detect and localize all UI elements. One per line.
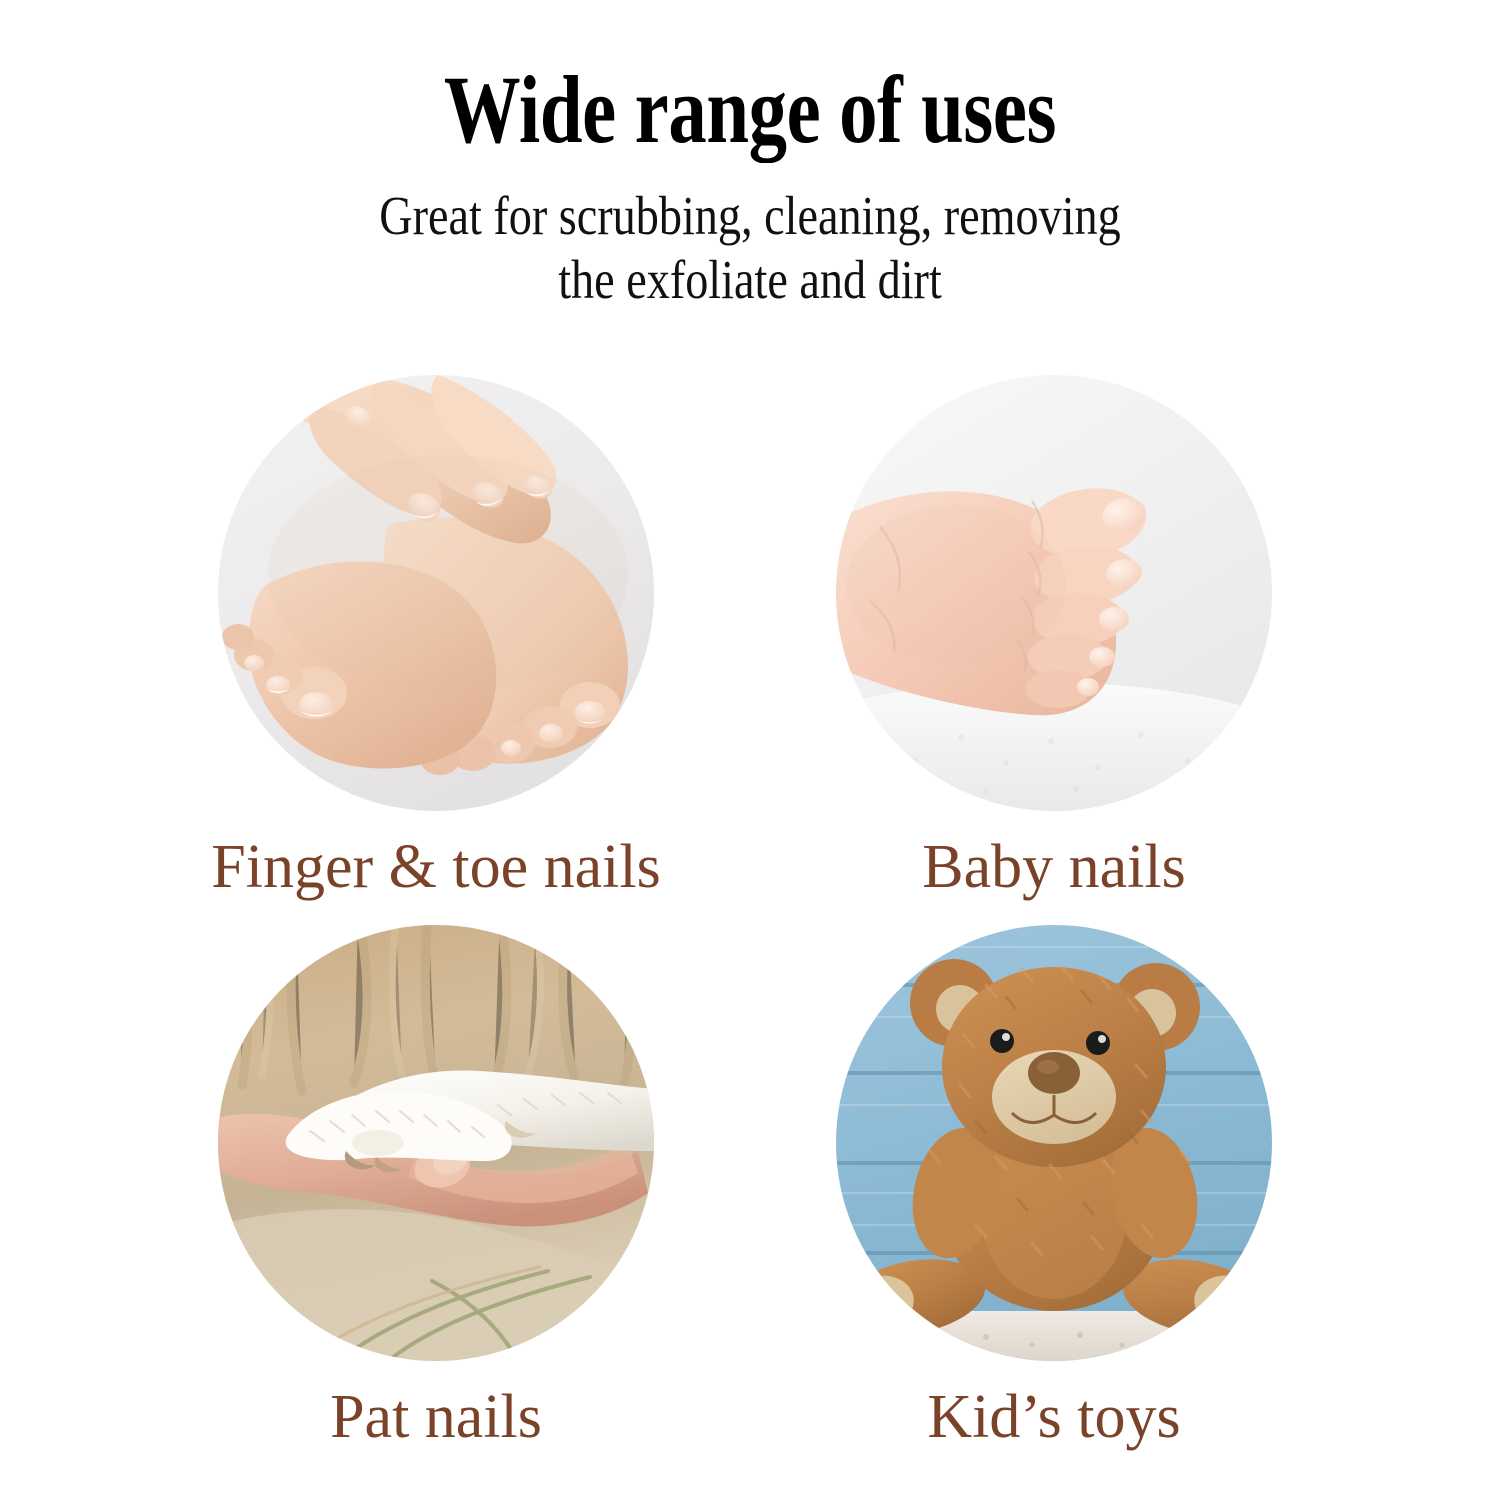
use-case-label-baby-nails: Baby nails <box>744 811 1364 901</box>
page-subtitle: Great for scrubbing, cleaning, removing … <box>120 158 1380 312</box>
page-subtitle-line-2: the exfoliate and dirt <box>120 248 1380 312</box>
use-case-label-finger-toe-nails: Finger & toe nails <box>126 811 746 901</box>
baby-foot-photo <box>836 375 1272 811</box>
feet-with-hand-photo <box>218 375 654 811</box>
uses-grid: Finger & toe nails <box>0 375 1500 1495</box>
use-case-label-pat-nails: Pat nails <box>126 1361 746 1451</box>
use-case-kids-toys: Kid’s toys <box>744 925 1364 1451</box>
use-case-finger-toe-nails: Finger & toe nails <box>126 375 746 901</box>
page-title: Wide range of uses <box>150 0 1350 158</box>
use-case-pat-nails: Pat nails <box>126 925 746 1451</box>
use-case-baby-nails: Baby nails <box>744 375 1364 901</box>
product-feature-infographic: Wide range of uses Great for scrubbing, … <box>0 0 1500 1500</box>
header-block: Wide range of uses Great for scrubbing, … <box>0 0 1500 312</box>
dog-paw-in-hand-photo <box>218 925 654 1361</box>
use-case-label-kids-toys: Kid’s toys <box>744 1361 1364 1451</box>
teddy-bear-photo <box>836 925 1272 1361</box>
page-subtitle-line-1: Great for scrubbing, cleaning, removing <box>120 184 1380 248</box>
